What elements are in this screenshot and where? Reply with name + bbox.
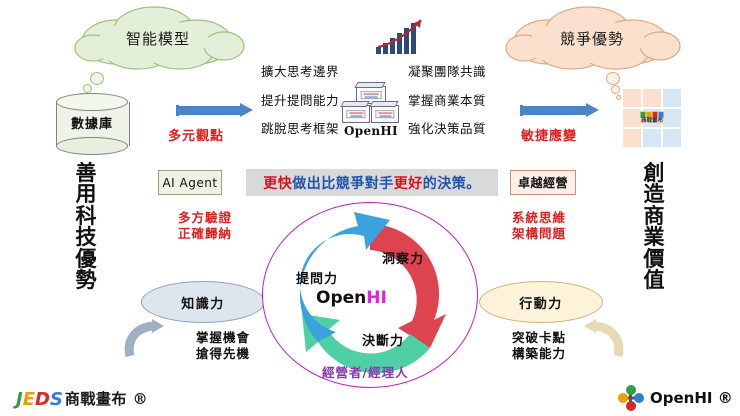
openhi-product-label: OpenHI	[338, 124, 404, 138]
wheel-label-decision: 決斷力	[362, 330, 404, 349]
excellent-management-label: 卓越經營	[518, 174, 568, 191]
right-vh-char: 值	[644, 269, 665, 290]
right-arrow-caption: 敏捷應變	[521, 125, 577, 144]
thought-bubble-large-right	[606, 72, 620, 85]
left-vh-char: 優	[76, 248, 97, 269]
growth-bar-chart-icon	[376, 14, 432, 54]
right-vh-char: 價	[644, 248, 665, 269]
database-label: 數據庫	[56, 113, 128, 132]
left-black-line-1: 掌握機會	[196, 330, 250, 345]
wheel-bottom-label: 經營者/經理人	[322, 362, 409, 381]
openhi-flower-icon	[618, 385, 644, 411]
right-flow-arrow	[520, 103, 600, 117]
banner-part-3: 競爭對手	[336, 173, 394, 193]
slide-canvas: 智能模型 數據庫 多元觀點 擴大思考邊界 提升提問能力 跳脫思考框架	[0, 0, 740, 416]
left-vh-char: 勢	[76, 269, 97, 290]
openhi-footer-name: OpenHI ®	[650, 389, 733, 407]
left-red-line-1: 多方驗證	[178, 210, 232, 225]
jeds-logo-cn: 商戰畫布 ®	[65, 388, 148, 409]
right-vh-char: 造	[644, 183, 665, 204]
left-vh-char: 技	[76, 226, 97, 247]
thought-bubble-small-right	[616, 95, 621, 100]
jeds-letter: D	[35, 391, 50, 409]
right-cloud-label: 競爭優勢	[500, 6, 684, 70]
left-vertical-heading: 善 用 科 技 優 勢	[72, 162, 100, 290]
openhi-cycle-wheel: 洞察力 決斷力 提問力 OpenHI	[262, 202, 478, 388]
left-vh-char: 用	[76, 183, 97, 204]
jeds-letter: E	[23, 391, 35, 409]
right-vh-char: 商	[644, 205, 665, 226]
key-message-banner: 更快做出比競爭對手更好的決策。	[246, 169, 498, 196]
benefit-item: 掌握商業本質	[408, 95, 518, 108]
action-ellipse-label: 行動力	[519, 293, 563, 312]
banner-part-2: 做出比	[292, 173, 336, 193]
right-benefit-list: 凝聚團隊共識 掌握商業本質 強化決策品質	[408, 66, 518, 136]
right-red-line-1: 系統思維	[512, 210, 566, 225]
right-red-line-2: 架構問題	[512, 226, 566, 241]
business-canvas-grid-icon: 商戰畫布	[622, 88, 682, 148]
wheel-center-brand: OpenHI	[316, 288, 387, 308]
left-black-line-2: 搶得先機	[196, 346, 250, 361]
wheel-label-question: 提問力	[296, 268, 338, 287]
jeds-logo: J E D S 商戰畫布 ®	[16, 388, 148, 409]
jeds-letter: S	[50, 391, 63, 409]
jeds-letter: J	[16, 391, 23, 409]
benefit-item: 強化決策品質	[408, 123, 518, 136]
right-vh-char: 業	[644, 226, 665, 247]
banner-part-1: 更快	[263, 173, 292, 193]
openhi-footer-logo: OpenHI ®	[618, 385, 733, 411]
left-vh-char: 科	[76, 205, 97, 226]
right-black-line-1: 突破卡點	[512, 330, 566, 345]
left-cloud-label: 智能模型	[68, 6, 248, 70]
right-vertical-heading: 創 造 商 業 價 值	[640, 162, 668, 290]
database-icon: 數據庫	[56, 93, 128, 157]
knowledge-ellipse-label: 知識力	[181, 293, 225, 312]
left-vh-char: 善	[76, 162, 97, 183]
right-pillar-black-text: 突破卡點 構築能力	[484, 330, 594, 361]
left-flow-arrow	[176, 103, 254, 117]
brand-suffix: HI	[366, 288, 387, 308]
left-arrow-caption: 多元觀點	[168, 125, 224, 144]
left-thought-cloud: 智能模型	[68, 6, 248, 70]
right-vh-char: 創	[644, 162, 665, 183]
right-thought-cloud: 競爭優勢	[500, 6, 684, 70]
wheel-label-insight: 洞察力	[382, 248, 424, 267]
banner-part-4: 更好	[394, 173, 423, 193]
ai-agent-tag[interactable]: AI Agent	[158, 170, 222, 195]
excellent-management-tag[interactable]: 卓越經營	[510, 170, 576, 195]
benefit-item: 擴大思考邊界	[261, 66, 371, 79]
thought-bubble-mid	[83, 84, 92, 93]
left-pillar-red-text: 多方驗證 正確歸納	[150, 210, 260, 241]
ai-agent-tag-label: AI Agent	[162, 176, 217, 190]
thought-bubble-mid-right	[611, 85, 620, 94]
canvas-mini-logo: 商戰畫布	[640, 112, 663, 125]
banner-part-5: 的決策。	[423, 173, 481, 193]
canvas-icon-label: 商戰畫布	[640, 119, 663, 125]
thought-bubble-large	[90, 72, 104, 85]
right-pillar-red-text: 系統思維 架構問題	[484, 210, 594, 241]
left-red-line-2: 正確歸納	[178, 226, 232, 241]
brand-prefix: Open	[316, 288, 366, 308]
right-black-line-2: 構築能力	[512, 346, 566, 361]
